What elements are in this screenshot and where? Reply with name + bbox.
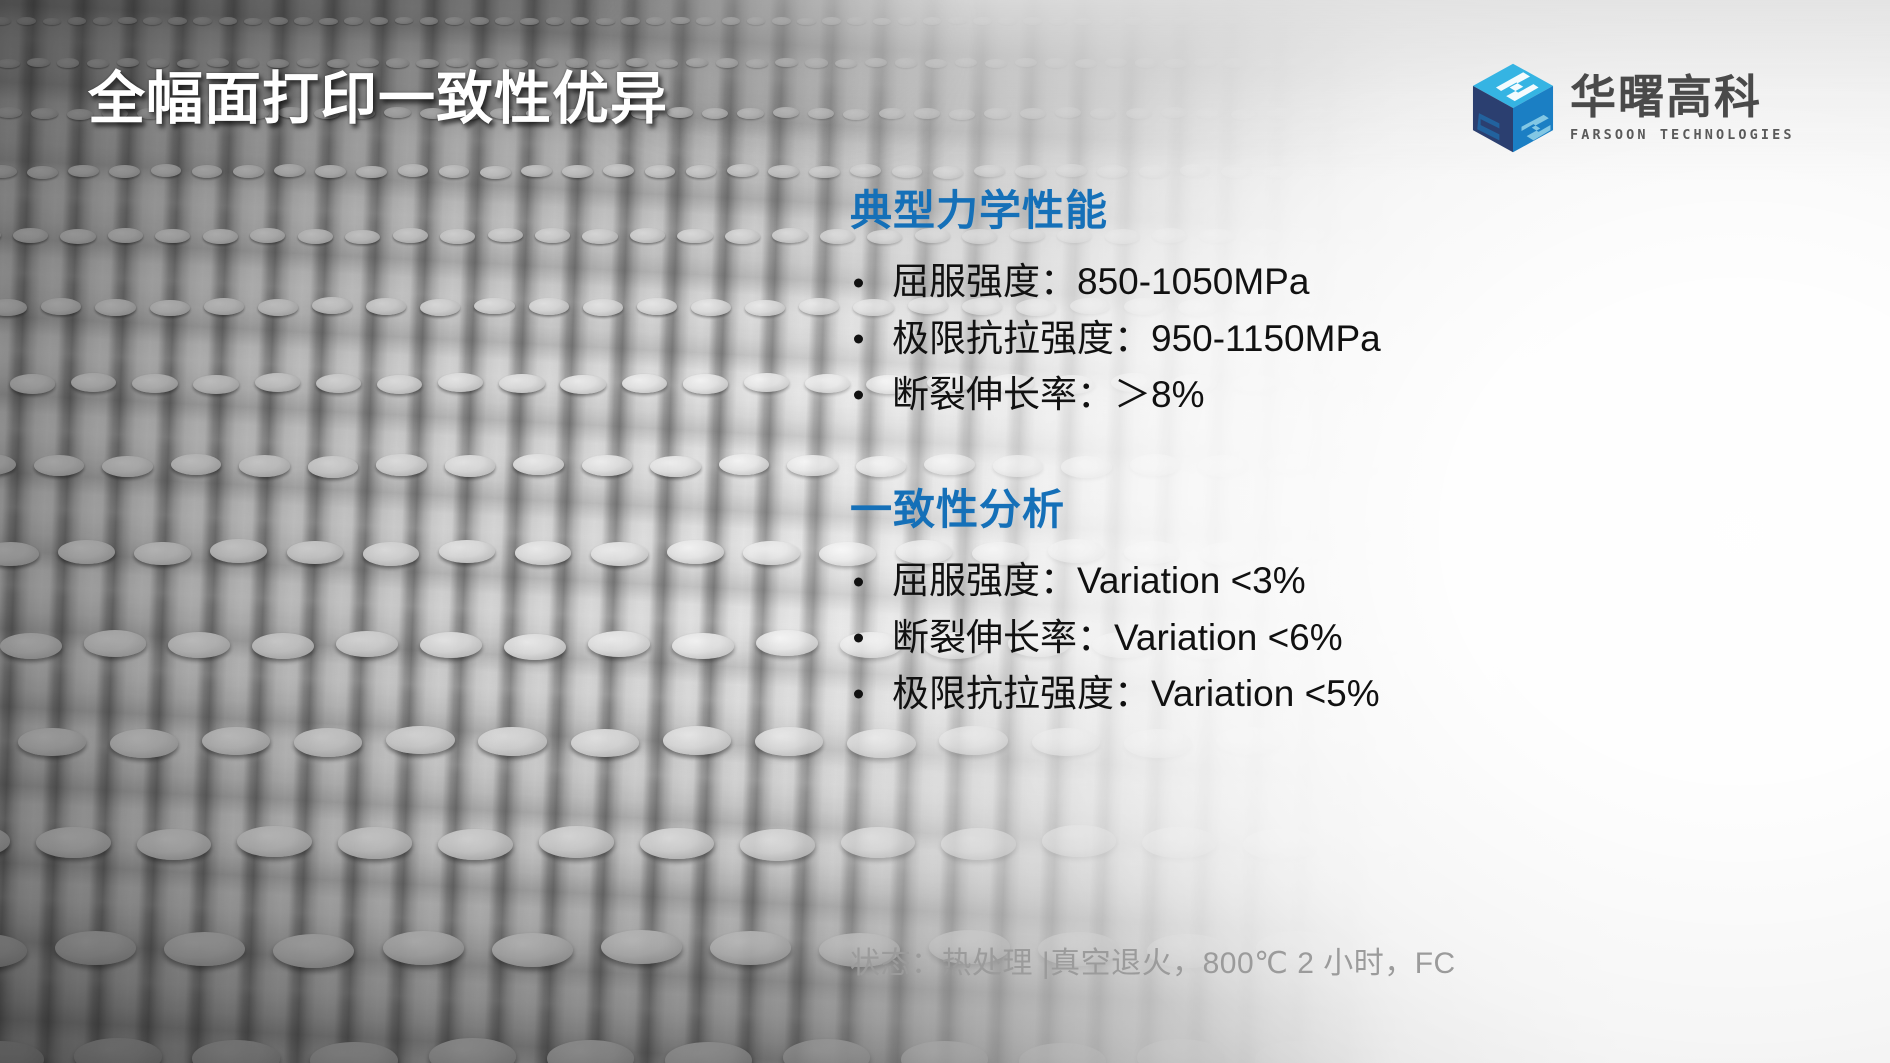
bullet-dot-icon (854, 390, 863, 399)
list-item-text: 断裂伸长率：＞8% (892, 374, 1204, 415)
logo-wordmark: 华曙高科 FARSOON TECHNOLOGIES (1570, 74, 1795, 143)
content-column: 典型力学性能 屈服强度：850-1050MPa 极限抗拉强度：950-1150M… (848, 186, 1848, 722)
list-item-text: 极限抗拉强度：950-1150MPa (892, 318, 1381, 359)
slide-title: 全幅面打印一致性优异 (88, 68, 668, 131)
list-item: 极限抗拉强度：950-1150MPa (848, 311, 1848, 367)
list-item-text: 屈服强度：850-1050MPa (892, 261, 1309, 302)
bullet-dot-icon (854, 278, 863, 287)
presentation-slide: 全幅面打印一致性优异 华曙高科 FARSOON TECHNOLOGIES (0, 0, 1890, 1063)
bullet-dot-icon (854, 690, 863, 699)
bullet-dot-icon (854, 633, 863, 642)
section-heading-consistency: 一致性分析 (850, 485, 1848, 535)
logo-en-name: FARSOON TECHNOLOGIES (1570, 127, 1795, 143)
condition-footnote: 状态：热处理 |真空退火，800℃ 2 小时，FC (850, 938, 1456, 982)
list-item-text: 断裂伸长率：Variation <6% (892, 617, 1343, 658)
section-spacer (848, 423, 1848, 485)
bullet-list-consistency: 屈服强度：Variation <3% 断裂伸长率：Variation <6% 极… (848, 553, 1848, 722)
logo-cn-name: 华曙高科 (1570, 74, 1762, 120)
company-logo: 华曙高科 FARSOON TECHNOLOGIES (1470, 62, 1795, 154)
list-item: 极限抗拉强度：Variation <5% (848, 666, 1848, 722)
list-item: 断裂伸长率：＞8% (848, 367, 1848, 423)
list-item-text: 极限抗拉强度：Variation <5% (892, 673, 1380, 714)
section-mechanical-properties: 典型力学性能 屈服强度：850-1050MPa 极限抗拉强度：950-1150M… (848, 186, 1848, 423)
list-item: 屈服强度：Variation <3% (848, 553, 1848, 609)
list-item: 屈服强度：850-1050MPa (848, 254, 1848, 310)
list-item: 断裂伸长率：Variation <6% (848, 610, 1848, 666)
farsoon-cube-icon (1470, 62, 1556, 154)
list-item-text: 屈服强度：Variation <3% (892, 560, 1306, 601)
section-heading-mechanical: 典型力学性能 (850, 186, 1848, 236)
bullet-list-mechanical: 屈服强度：850-1050MPa 极限抗拉强度：950-1150MPa 断裂伸长… (848, 254, 1848, 423)
bullet-dot-icon (854, 577, 863, 586)
section-consistency-analysis: 一致性分析 屈服强度：Variation <3% 断裂伸长率：Variation… (848, 485, 1848, 722)
bullet-dot-icon (854, 334, 863, 343)
